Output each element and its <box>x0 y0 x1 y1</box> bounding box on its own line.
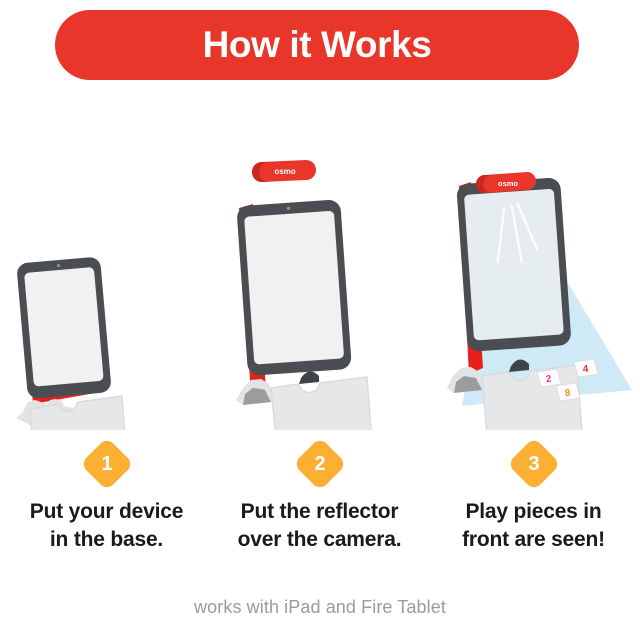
header-banner: How it Works <box>55 10 579 80</box>
caption-line-2: in the base. <box>0 526 213 554</box>
step-badge-2: 2 <box>293 437 347 491</box>
play-tile-8: 8 <box>556 383 580 401</box>
illustration-reflector-attached-with-light-cone: osmo 2 4 8 <box>427 100 640 430</box>
step-panel-3: osmo 2 4 8 3 <box>427 100 640 580</box>
reflector-logo-text: osmo <box>274 167 295 176</box>
reflector-logo-text: osmo <box>498 179 518 188</box>
caption-line-1: Put your device <box>30 500 183 523</box>
step-panel-2: osmo 2 Put the reflector over the camera… <box>213 100 426 580</box>
step-number: 2 <box>301 445 339 483</box>
reflector-clip-attached: osmo <box>476 172 536 193</box>
step-caption-1: Put your device in the base. <box>0 498 213 554</box>
caption-line-2: front are seen! <box>427 526 640 554</box>
play-tile-2: 2 <box>537 369 561 387</box>
step-caption-3: Play pieces in front are seen! <box>427 498 640 554</box>
caption-line-1: Put the reflector <box>241 500 399 523</box>
step-number: 1 <box>88 445 126 483</box>
compatibility-note: works with iPad and Fire Tablet <box>0 597 640 618</box>
caption-line-1: Play pieces in <box>465 500 601 523</box>
caption-line-2: over the camera. <box>213 526 426 554</box>
illustration-tablet-with-floating-reflector: osmo <box>213 100 426 430</box>
step-panel-1: 1 Put your device in the base. <box>0 100 213 580</box>
steps-container: 1 Put your device in the base. osmo <box>0 100 640 580</box>
reflector-clip: osmo <box>252 160 316 182</box>
illustration-tablet-above-base <box>0 100 213 430</box>
page-title: How it Works <box>203 26 432 63</box>
step-caption-2: Put the reflector over the camera. <box>213 498 426 554</box>
step-badge-3: 3 <box>507 437 561 491</box>
step-badge-1: 1 <box>80 437 134 491</box>
step-number: 3 <box>515 445 553 483</box>
play-tile-4: 4 <box>574 359 598 377</box>
